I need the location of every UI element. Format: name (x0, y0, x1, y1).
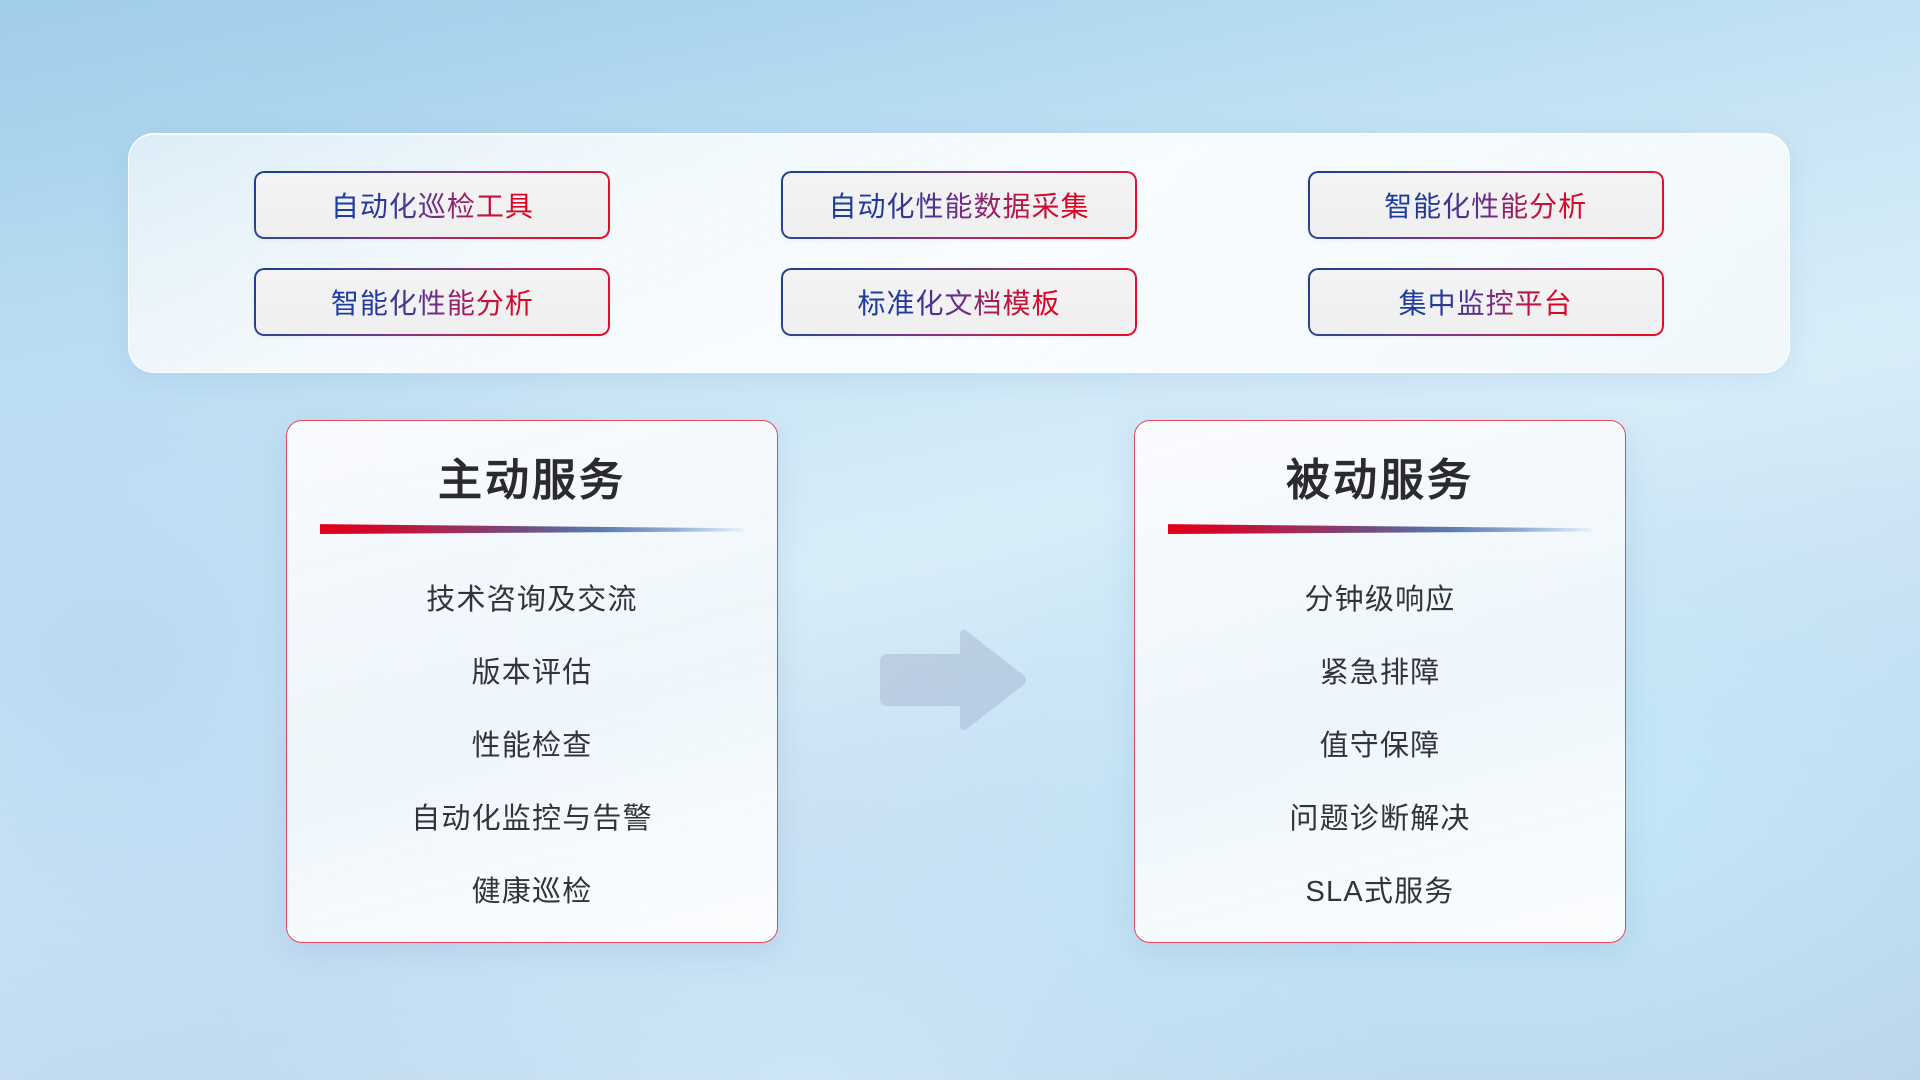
service-list-item: SLA式服务 (1305, 856, 1454, 929)
service-card-proactive: 主动服务 技术咨询及交流 版本评估 性能检查 自动化监控与告警 健康巡检 (286, 420, 778, 943)
slide-canvas: 自动化巡检工具 自动化性能数据采集 智能化性能分析 智能化性能分析 标准化文档模… (0, 0, 1920, 1080)
card-title-divider (1168, 522, 1592, 534)
capability-tag[interactable]: 智能化性能分析 (254, 268, 610, 336)
flow-arrow (872, 620, 1032, 740)
service-list-item: 紧急排障 (1320, 637, 1441, 710)
capability-tag[interactable]: 自动化性能数据采集 (781, 171, 1137, 239)
service-list-item: 值守保障 (1320, 710, 1441, 783)
card-divider-gradient-bar (1168, 522, 1592, 534)
service-item-list: 分钟级响应 紧急排障 值守保障 问题诊断解决 SLA式服务 (1135, 564, 1625, 929)
card-title: 被动服务 (1286, 453, 1474, 508)
service-list-item: 性能检查 (472, 710, 593, 783)
card-title-divider (320, 522, 744, 534)
service-list-item: 分钟级响应 (1304, 564, 1455, 637)
service-list-item: 问题诊断解决 (1289, 783, 1470, 856)
service-list-item: 技术咨询及交流 (426, 564, 637, 637)
service-list-item: 版本评估 (472, 637, 593, 710)
capability-tag-label: 标准化文档模板 (857, 282, 1060, 322)
capability-tag-label: 智能化性能分析 (1384, 185, 1587, 225)
service-item-list: 技术咨询及交流 版本评估 性能检查 自动化监控与告警 健康巡检 (287, 564, 777, 929)
service-card-reactive: 被动服务 分钟级响应 紧急排障 值守保障 问题诊断解决 SLA式服务 (1134, 420, 1626, 943)
capability-tag-label: 自动化性能数据采集 (828, 185, 1089, 225)
capability-tag[interactable]: 标准化文档模板 (781, 268, 1137, 336)
capability-tag[interactable]: 自动化巡检工具 (254, 171, 610, 239)
capability-tag[interactable]: 集中监控平台 (1308, 268, 1664, 336)
capability-tag-label: 智能化性能分析 (331, 282, 534, 322)
arrow-right-icon (872, 620, 1032, 740)
card-divider-gradient-bar (320, 522, 744, 534)
service-list-item: 健康巡检 (472, 856, 593, 929)
capability-tag-label: 集中监控平台 (1399, 282, 1573, 322)
capability-tag[interactable]: 智能化性能分析 (1308, 171, 1664, 239)
service-list-item: 自动化监控与告警 (411, 783, 653, 856)
capability-tag-label: 自动化巡检工具 (331, 185, 534, 225)
card-title: 主动服务 (438, 453, 626, 508)
capability-tags-panel: 自动化巡检工具 自动化性能数据采集 智能化性能分析 智能化性能分析 标准化文档模… (128, 133, 1790, 373)
